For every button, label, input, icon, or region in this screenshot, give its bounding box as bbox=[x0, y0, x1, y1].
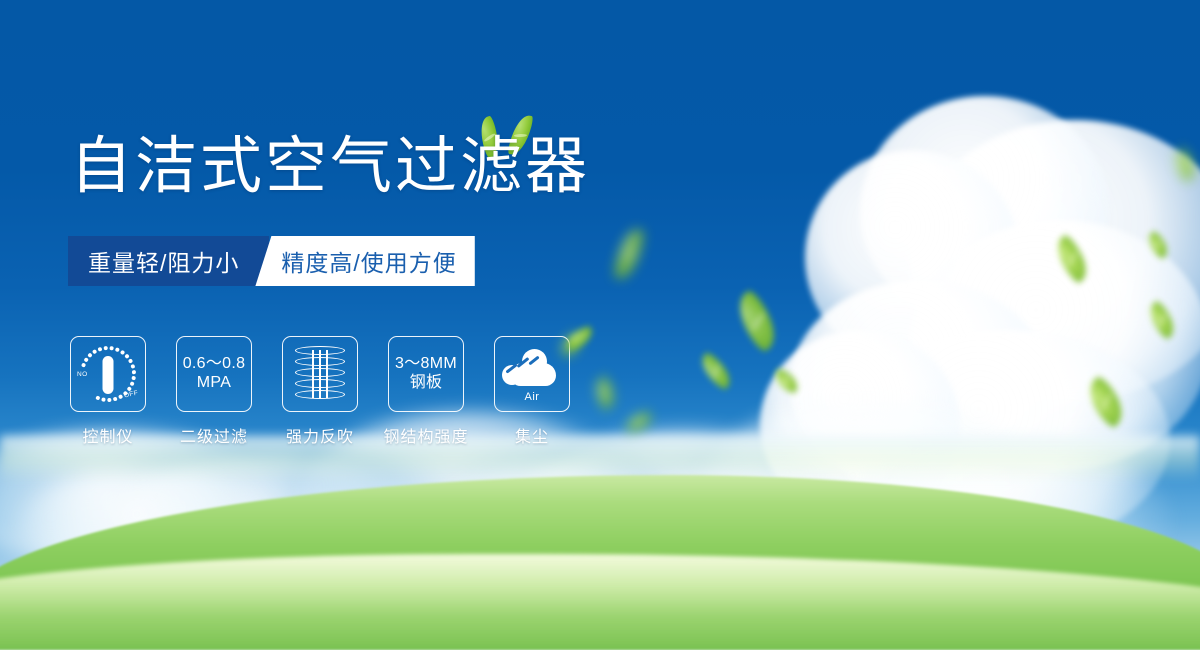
steel-plate-line-1: 3～8MM bbox=[395, 355, 457, 374]
feature-icon-box: 0.6～0.8 MPA bbox=[176, 336, 252, 412]
pressure-value-line-2: MPA bbox=[197, 374, 231, 393]
pressure-value-line-1: 0.6～0.8 bbox=[183, 355, 246, 374]
feature-label: 钢结构强度 bbox=[384, 423, 469, 447]
feature-icon-box bbox=[282, 336, 358, 412]
feature-item-dust-collection[interactable]: Air 集尘 bbox=[494, 336, 570, 447]
subtitle-left-segment: 重量轻/阻力小 bbox=[68, 236, 269, 286]
dial-off-label: OFF bbox=[123, 390, 138, 400]
feature-label: 控制仪 bbox=[82, 423, 133, 447]
feature-label: 集尘 bbox=[515, 423, 549, 447]
feature-icon-box: NO OFF bbox=[70, 336, 146, 412]
air-label: Air bbox=[502, 391, 562, 403]
page-title: 自洁式空气过滤器 bbox=[70, 136, 590, 198]
feature-list: NO OFF 控制仪 0.6～0.8 MPA 二级过滤 bbox=[70, 336, 570, 447]
feature-item-strong-backflush[interactable]: 强力反吹 bbox=[282, 336, 358, 447]
subtitle-right-segment: 精度高/使用方便 bbox=[255, 236, 474, 286]
subtitle-left-text: 重量轻/阻力小 bbox=[88, 244, 239, 278]
dial-icon: NO OFF bbox=[77, 343, 139, 405]
feature-item-steel-structure-strength[interactable]: 3～8MM 钢板 钢结构强度 bbox=[388, 336, 464, 447]
steel-plate-line-2: 钢板 bbox=[410, 374, 443, 393]
air-cloud-icon: Air bbox=[502, 348, 562, 400]
filter-cartridge-icon bbox=[295, 346, 345, 402]
feature-icon-box: Air bbox=[494, 336, 570, 412]
dial-pointer bbox=[103, 356, 114, 394]
subtitle-banner: 重量轻/阻力小 精度高/使用方便 bbox=[68, 236, 475, 286]
grass-ground bbox=[0, 450, 1200, 650]
subtitle-right-text: 精度高/使用方便 bbox=[281, 244, 456, 278]
product-hero-banner: 自洁式空气过滤器 重量轻/阻力小 精度高/使用方便 bbox=[0, 0, 1200, 650]
feature-item-two-stage-filtration[interactable]: 0.6～0.8 MPA 二级过滤 bbox=[176, 336, 252, 447]
feature-item-controller[interactable]: NO OFF 控制仪 bbox=[70, 336, 146, 447]
dial-no-label: NO bbox=[77, 371, 88, 378]
feature-label: 强力反吹 bbox=[286, 423, 354, 447]
feature-icon-box: 3～8MM 钢板 bbox=[388, 336, 464, 412]
feature-label: 二级过滤 bbox=[180, 423, 248, 447]
